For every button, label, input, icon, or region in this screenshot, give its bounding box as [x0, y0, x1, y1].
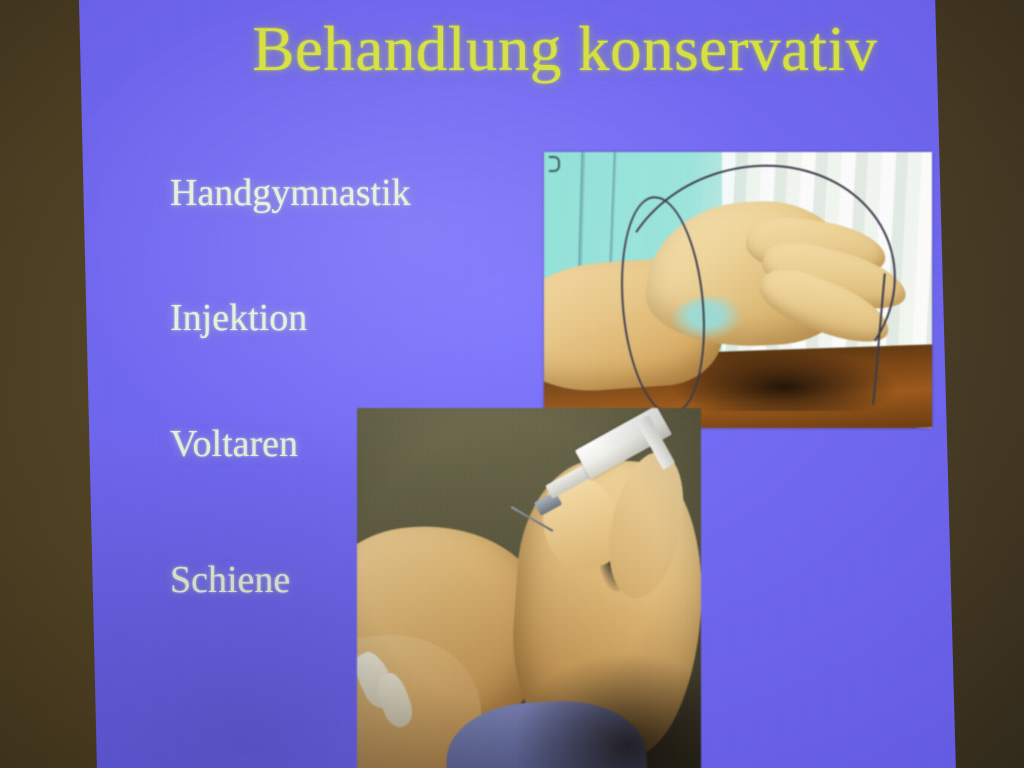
injection-photo-vignette — [357, 408, 701, 768]
slide-title: Behandlung konservativ — [215, 16, 915, 82]
hand-with-wire-splint-photo — [544, 152, 932, 428]
projected-slide: Behandlung konservativ Handgymnastik Inj… — [70, 0, 970, 768]
injection-into-hand-photo — [357, 408, 701, 768]
screenshot-stage: Behandlung konservativ Handgymnastik Inj… — [0, 0, 1024, 768]
bullet-item-handgymnastik: Handgymnastik — [170, 174, 500, 212]
photo-corner-marker — [549, 156, 560, 172]
bullet-item-injektion: Injektion — [170, 299, 500, 337]
